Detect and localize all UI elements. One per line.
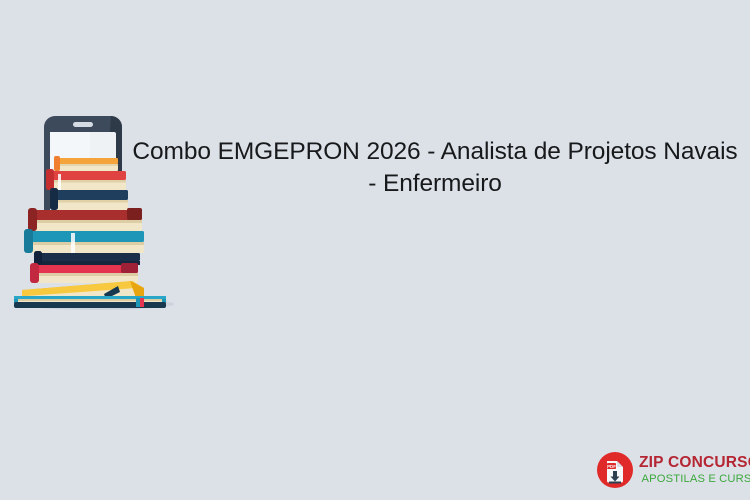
- book-layer-dark-red: [28, 208, 142, 231]
- book-layer-navy-1: [50, 188, 128, 210]
- svg-text:PDF: PDF: [607, 464, 616, 469]
- product-title: Combo EMGEPRON 2026 - Analista de Projet…: [128, 136, 742, 200]
- book-layer-pink: [30, 263, 138, 283]
- brand-logo[interactable]: PDF ZIP CONCURSOS APOSTILAS E CURSOS: [596, 449, 744, 491]
- book-layer-base: [14, 296, 166, 308]
- brand-name: ZIP CONCURSOS: [639, 455, 750, 471]
- product-banner: Combo EMGEPRON 2026 - Analista de Projet…: [0, 0, 750, 500]
- pdf-download-icon: PDF: [596, 451, 634, 489]
- book-layer-teal-1: [24, 229, 144, 253]
- brand-wordmark: ZIP CONCURSOS APOSTILAS E CURSOS: [639, 455, 750, 485]
- book-layer-red-1: [46, 169, 126, 190]
- product-title-block: Combo EMGEPRON 2026 - Analista de Projet…: [128, 136, 742, 200]
- brand-tagline: APOSTILAS E CURSOS: [639, 474, 750, 485]
- book-layer-navy-2: [34, 251, 140, 265]
- book-layer-orange-top: [54, 156, 118, 171]
